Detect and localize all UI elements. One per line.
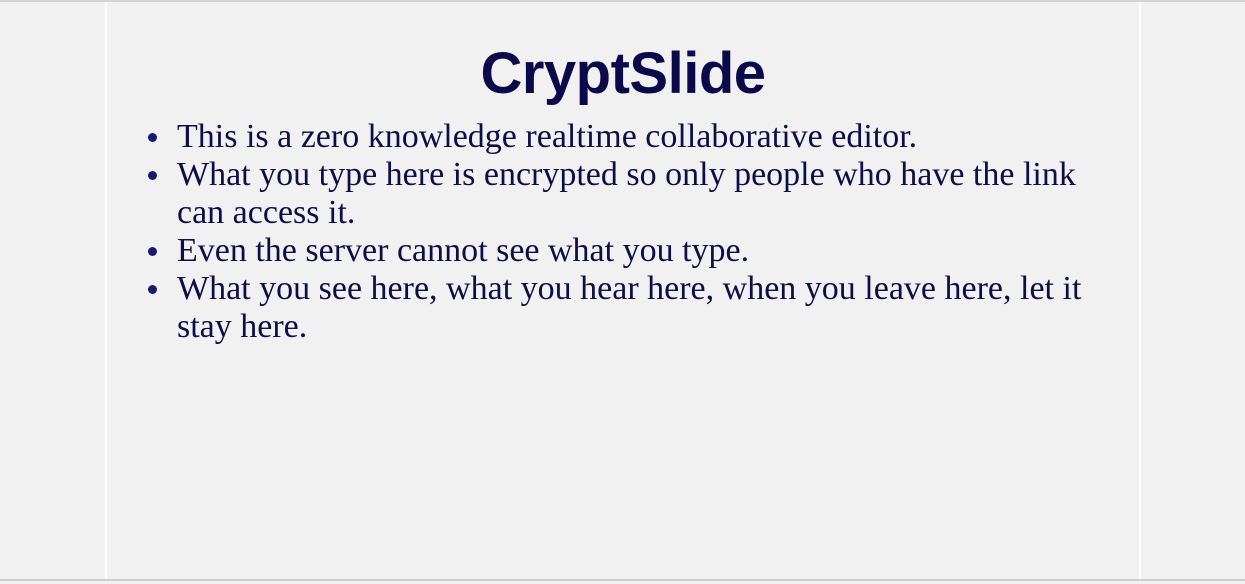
- bullet-dot-icon: [148, 171, 157, 180]
- right-gutter: [1140, 2, 1245, 579]
- bullet-dot-icon: [148, 285, 157, 294]
- list-item[interactable]: This is a zero knowledge realtime collab…: [107, 118, 1139, 156]
- slide-viewer: CryptSlide This is a zero knowledge real…: [0, 0, 1245, 584]
- list-item-label: Even the server cannot see what you type…: [177, 232, 1129, 270]
- list-item[interactable]: What you see here, what you hear here, w…: [107, 270, 1139, 346]
- slide-surface[interactable]: CryptSlide This is a zero knowledge real…: [107, 3, 1139, 579]
- bullet-dot-icon: [148, 247, 157, 256]
- bottom-rule: [0, 579, 1245, 581]
- left-gutter: [0, 2, 106, 579]
- list-item-label: This is a zero knowledge realtime collab…: [177, 118, 1129, 156]
- list-item-label: What you see here, what you hear here, w…: [177, 270, 1129, 346]
- slide-right-divider: [1139, 2, 1141, 579]
- list-item-label: What you type here is encrypted so only …: [177, 156, 1129, 232]
- bullet-dot-icon: [148, 133, 157, 142]
- list-item[interactable]: What you type here is encrypted so only …: [107, 156, 1139, 232]
- top-rule: [0, 0, 1245, 2]
- slide-bullet-list: This is a zero knowledge realtime collab…: [107, 118, 1139, 346]
- page-title: CryptSlide: [107, 45, 1139, 103]
- list-item[interactable]: Even the server cannot see what you type…: [107, 232, 1139, 270]
